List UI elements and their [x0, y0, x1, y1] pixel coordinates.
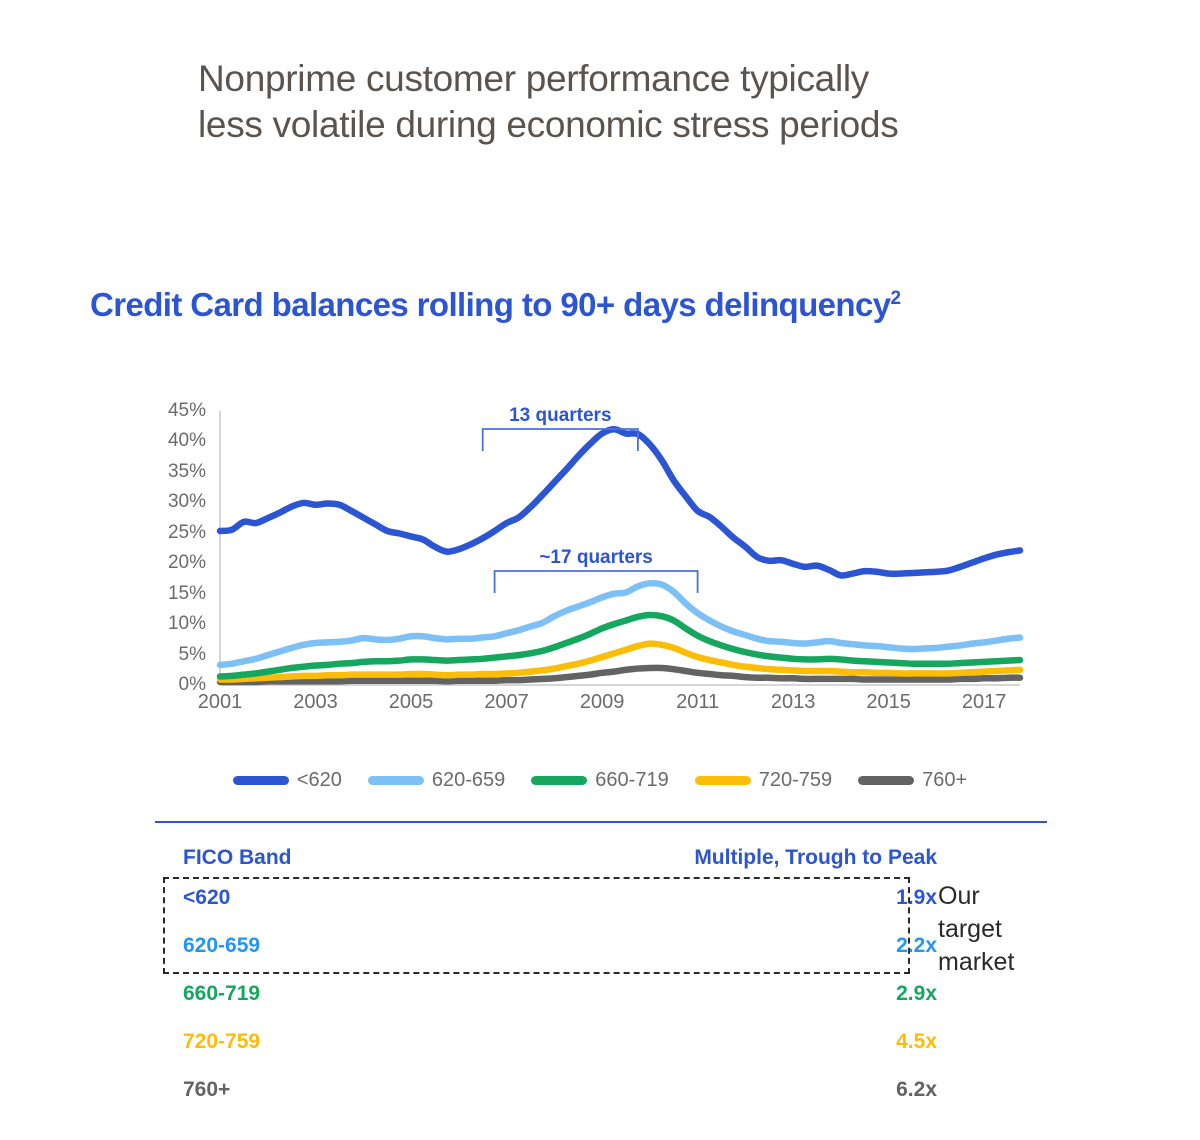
legend-item-620-659[interactable]: 620-659	[368, 769, 505, 792]
legend-swatch-icon	[233, 776, 289, 785]
cell-multiple: 4.5x	[896, 1018, 937, 1066]
legend-label: 620-659	[432, 769, 505, 792]
chart-title-text: Credit Card balances rolling to 90+ days…	[90, 286, 890, 323]
x-axis-tick-label: 2015	[866, 691, 911, 714]
slide-root: Nonprime customer performance typically …	[0, 0, 1200, 1140]
x-axis-tick-label: 2003	[293, 691, 338, 714]
legend-swatch-icon	[858, 776, 914, 785]
section-divider	[155, 821, 1047, 823]
column-header-multiple: Multiple, Trough to Peak	[694, 846, 937, 870]
chart-plot-area	[0, 395, 1200, 695]
table-row: 620-6592.2x	[155, 922, 945, 970]
legend-swatch-icon	[531, 776, 587, 785]
annotation-label: ~17 quarters	[539, 547, 653, 569]
x-axis-tick-label: 2013	[771, 691, 816, 714]
legend-label: 660-719	[595, 769, 668, 792]
page-title: Nonprime customer performance typically …	[198, 56, 1058, 148]
legend-label: 720-759	[759, 769, 832, 792]
table-row: 660-7192.9x	[155, 970, 945, 1018]
x-axis-tick-label: 2009	[580, 691, 625, 714]
legend-swatch-icon	[368, 776, 424, 785]
target-market-callout: Our target market	[938, 880, 1014, 979]
legend-item-660-719[interactable]: 660-719	[531, 769, 668, 792]
cell-fico-band: 660-719	[183, 970, 260, 1018]
callout-line-3: market	[938, 946, 1014, 979]
table-body: <6201.9x620-6592.2x660-7192.9x720-7594.5…	[155, 874, 945, 1114]
x-axis-tick-label: 2007	[484, 691, 529, 714]
column-header-fico-band: FICO Band	[183, 846, 292, 870]
callout-line-1: Our	[938, 880, 1014, 913]
x-axis: 200120032005200720092011201320152017	[0, 691, 1200, 723]
table-row: 720-7594.5x	[155, 1018, 945, 1066]
cell-fico-band: 760+	[183, 1066, 230, 1114]
headline-line-2: less volatile during economic stress per…	[198, 102, 1058, 148]
cell-multiple: 2.2x	[896, 922, 937, 970]
x-axis-tick-label: 2011	[676, 691, 719, 714]
callout-line-2: target	[938, 913, 1014, 946]
table-row: <6201.9x	[155, 874, 945, 922]
cell-multiple: 1.9x	[896, 874, 937, 922]
legend-item-760+[interactable]: 760+	[858, 769, 967, 792]
x-axis-tick-label: 2001	[198, 691, 243, 714]
x-axis-tick-label: 2005	[389, 691, 434, 714]
table-row: 760+6.2x	[155, 1066, 945, 1114]
legend-swatch-icon	[695, 776, 751, 785]
x-axis-tick-label: 2017	[962, 691, 1007, 714]
legend-label: 760+	[922, 769, 967, 792]
chart-legend: <620620-659660-719720-759760+	[0, 762, 1200, 798]
chart-title: Credit Card balances rolling to 90+ days…	[90, 286, 900, 324]
table-header-row: FICO Band Multiple, Trough to Peak	[155, 846, 945, 874]
headline-line-1: Nonprime customer performance typically	[198, 58, 869, 99]
cell-fico-band: 720-759	[183, 1018, 260, 1066]
legend-item-720-759[interactable]: 720-759	[695, 769, 832, 792]
legend-item-<620[interactable]: <620	[233, 769, 342, 792]
cell-multiple: 2.9x	[896, 970, 937, 1018]
cell-fico-band: 620-659	[183, 922, 260, 970]
annotation-label: 13 quarters	[509, 405, 611, 427]
legend-label: <620	[297, 769, 342, 792]
cell-fico-band: <620	[183, 874, 230, 922]
fico-multiple-table: FICO Band Multiple, Trough to Peak <6201…	[155, 846, 945, 1114]
line-chart: 0%5%10%15%20%25%30%35%40%45% 20012003200…	[0, 395, 1200, 755]
chart-title-footnote: 2	[890, 288, 900, 309]
cell-multiple: 6.2x	[896, 1066, 937, 1114]
